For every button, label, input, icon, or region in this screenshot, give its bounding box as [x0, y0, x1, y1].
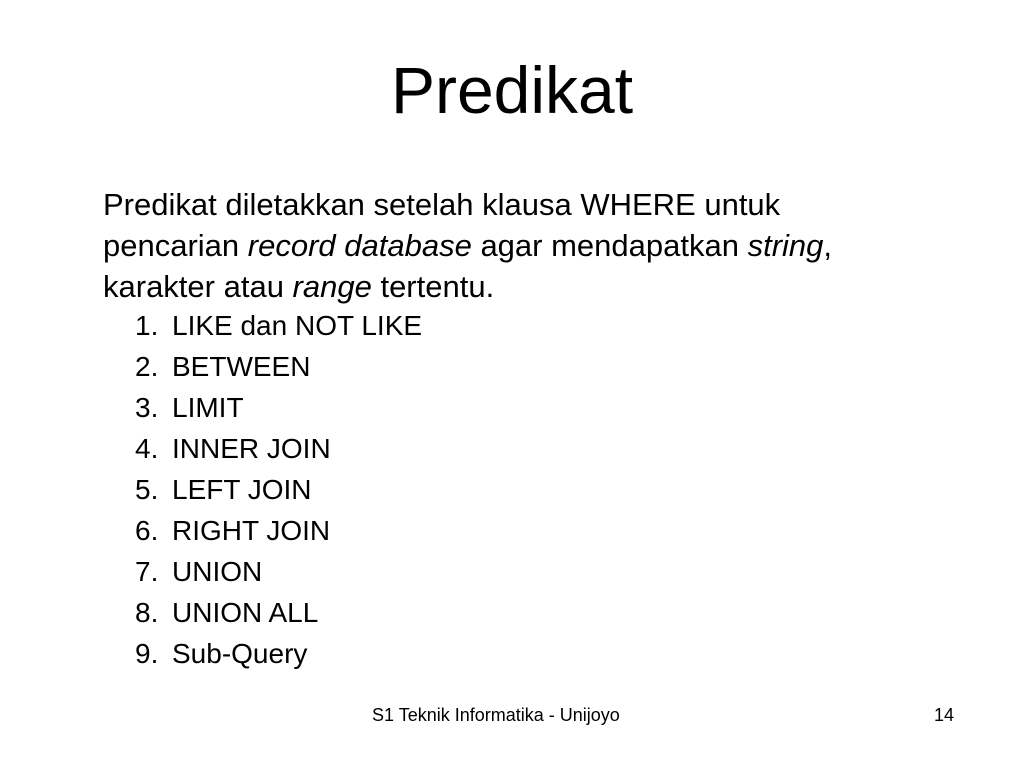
- list-item-label: Sub-Query: [172, 633, 307, 674]
- list-item: 8.UNION ALL: [135, 592, 835, 633]
- list-item-label: BETWEEN: [172, 346, 310, 387]
- footer-note: S1 Teknik Informatika - Unijoyo: [372, 703, 620, 727]
- list-item: 3.LIMIT: [135, 387, 835, 428]
- list-item: 2.BETWEEN: [135, 346, 835, 387]
- list-item: 4.INNER JOIN: [135, 428, 835, 469]
- list-item-label: LIKE dan NOT LIKE: [172, 305, 422, 346]
- paragraph-emphasis: range: [293, 269, 372, 304]
- list-item: 7.UNION: [135, 551, 835, 592]
- paragraph-text: tertentu.: [372, 269, 494, 304]
- paragraph-emphasis: record database: [248, 228, 472, 263]
- predicate-list: 1.LIKE dan NOT LIKE2.BETWEEN3.LIMIT4.INN…: [135, 305, 835, 674]
- list-item-marker: 1.: [135, 305, 172, 346]
- list-item-label: RIGHT JOIN: [172, 510, 330, 551]
- page-title: Predikat: [0, 52, 1024, 128]
- list-item-marker: 9.: [135, 633, 172, 674]
- list-item: 1.LIKE dan NOT LIKE: [135, 305, 835, 346]
- body-paragraph: Predikat diletakkan setelah klausa WHERE…: [103, 184, 893, 307]
- list-item-label: UNION: [172, 551, 262, 592]
- list-item-marker: 6.: [135, 510, 172, 551]
- list-item-label: LEFT JOIN: [172, 469, 312, 510]
- list-item-marker: 5.: [135, 469, 172, 510]
- paragraph-emphasis: string: [748, 228, 824, 263]
- paragraph-text: agar mendapatkan: [472, 228, 748, 263]
- list-item-marker: 8.: [135, 592, 172, 633]
- list-item-label: UNION ALL: [172, 592, 318, 633]
- list-item-marker: 2.: [135, 346, 172, 387]
- slide-canvas: Predikat Predikat diletakkan setelah kla…: [0, 0, 1024, 768]
- list-item-marker: 3.: [135, 387, 172, 428]
- page-number: 14: [934, 703, 974, 727]
- list-item: 5.LEFT JOIN: [135, 469, 835, 510]
- list-item-label: INNER JOIN: [172, 428, 331, 469]
- list-item-label: LIMIT: [172, 387, 244, 428]
- list-item: 9.Sub-Query: [135, 633, 835, 674]
- list-item-marker: 7.: [135, 551, 172, 592]
- list-item: 6.RIGHT JOIN: [135, 510, 835, 551]
- list-item-marker: 4.: [135, 428, 172, 469]
